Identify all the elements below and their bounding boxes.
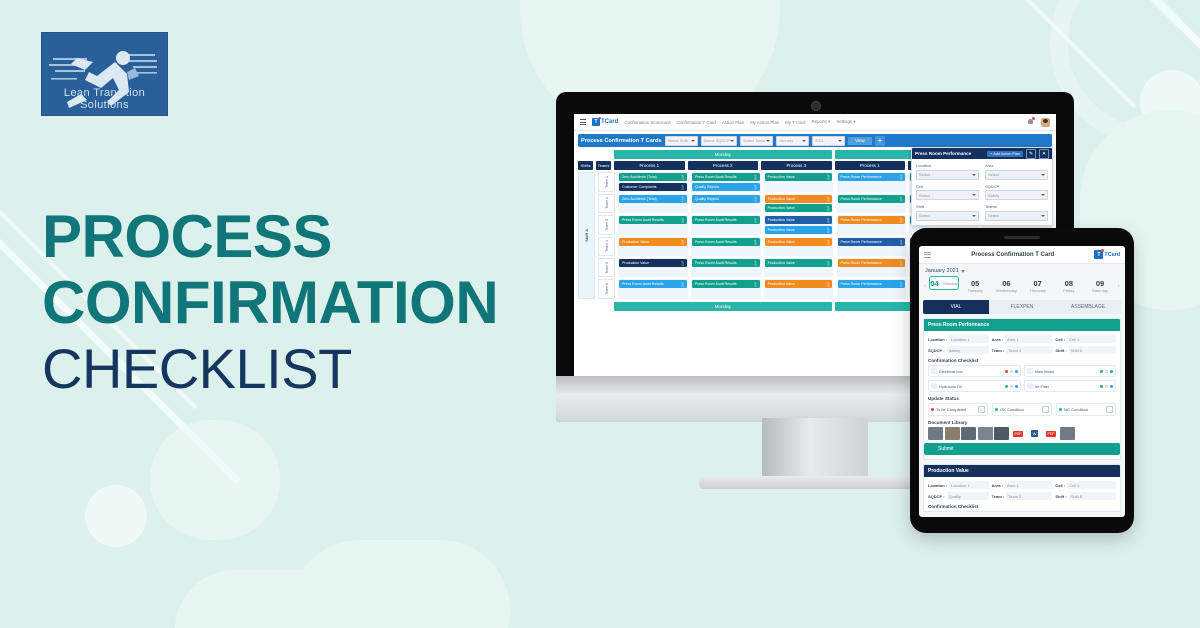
day-header-monday: Monday — [614, 150, 832, 159]
bg-blob-2 — [150, 420, 280, 540]
app-brand[interactable]: T TCard — [592, 118, 618, 126]
pdf-label: PDF — [1013, 431, 1023, 437]
tab-vial[interactable]: VIAL — [923, 300, 989, 314]
card-field-value: Location 1 — [949, 481, 989, 489]
field-label: Area — [985, 163, 1048, 168]
select-team[interactable]: Select Team — [740, 136, 773, 146]
tcard-logo-icon: T — [592, 118, 600, 126]
tcard-item[interactable]: Press Room Audit Results✎☰ — [619, 280, 687, 288]
word-icon[interactable]: W — [1027, 427, 1042, 440]
grid-cell[interactable]: Press Room Performance✎☰ — [837, 279, 907, 299]
field-label: SQDCP — [985, 184, 1048, 189]
panel-field: TeamsSelect — [985, 204, 1048, 221]
close-icon[interactable]: ✕ — [1039, 149, 1049, 159]
nav-item-my-tcard[interactable]: My T Card — [785, 120, 805, 125]
monday-cells: Press Room Audit Results✎☰Press Room Aud… — [618, 279, 834, 299]
monday-cells: Zero Accidents (Total)✎☰Quality Rejects✎… — [618, 194, 834, 214]
tcard-item[interactable]: Press Room Audit Results✎☰ — [692, 259, 760, 267]
tablet-page-title: Process Confirmation T Card — [931, 252, 1094, 258]
team-label-text: Team 6 — [605, 283, 609, 295]
menu-icon[interactable]: ☰ — [681, 284, 685, 287]
press-room-performance-panel: Press Room Performance + Add Action Plan… — [911, 147, 1053, 226]
oil-icon — [931, 383, 937, 389]
panel-header: Press Room Performance + Add Action Plan… — [912, 148, 1052, 159]
grid-cell[interactable]: Production Value✎☰Production Value✎☰ — [764, 215, 834, 235]
tcard-item[interactable]: Zero Accidents (Total)✎☰ — [619, 173, 687, 181]
card1-documents-title: Document Library — [924, 420, 1120, 427]
card-field: Cell :Cell 1 — [1055, 335, 1116, 343]
hamburger-icon[interactable] — [580, 119, 586, 125]
team-label-text: Team 3 — [605, 219, 609, 231]
monday-cells: Press Room Audit Results✎☰Press Room Aud… — [618, 215, 834, 235]
menu-icon[interactable]: ☰ — [754, 263, 758, 266]
date-number: 05 — [962, 279, 989, 288]
chevron-down-icon — [730, 140, 734, 142]
photo-thumbnail[interactable] — [928, 427, 943, 440]
menu-icon[interactable]: ☰ — [827, 199, 831, 202]
checklist-item[interactable]: Air Filter — [1024, 380, 1117, 392]
date-strip: ‹ 04Monday05Tuesday06Wednesday07Thursday… — [919, 276, 1125, 300]
menu-icon[interactable]: ☰ — [754, 187, 758, 190]
tcard-item[interactable]: Production Value✎☰ — [765, 238, 833, 246]
card2-title: Production Value — [924, 465, 1120, 477]
month-label: January 2021 — [925, 268, 959, 274]
document-library: PDFWPDF — [924, 427, 1120, 443]
press-room-performance-card: Press Room Performance Location :Locatio… — [923, 318, 1121, 460]
menu-icon[interactable]: ☰ — [827, 177, 831, 180]
grid-cell[interactable]: Quality Rejects✎☰ — [691, 194, 761, 214]
grid-cell[interactable]: Press Room Performance✎☰ — [837, 237, 907, 257]
tcard-item[interactable]: Press Room Audit Results✎☰ — [619, 216, 687, 224]
card1-fields: Location :Location 1Area :Area 1Cell :Ce… — [924, 331, 1120, 358]
team-label-text: Team 5 — [605, 262, 609, 274]
menu-icon[interactable]: ☰ — [754, 284, 758, 287]
pdf-label: PDF — [1046, 431, 1056, 437]
card2-fields: Location :Location 1Area :Area 1Cell :Ce… — [924, 477, 1120, 504]
tcard-item[interactable]: Production Value✎☰ — [765, 226, 833, 234]
nav-item-my-action-plan[interactable]: My Action Plan — [750, 120, 779, 125]
photo-thumbnail[interactable] — [945, 427, 960, 440]
grid-cell[interactable]: Production Value✎☰ — [764, 237, 834, 257]
pdf-icon[interactable]: PDF — [1011, 427, 1026, 440]
photo-thumbnail[interactable] — [978, 427, 993, 440]
field-label: Location — [916, 163, 979, 168]
add-action-plan-button[interactable]: + Add Action Plan — [987, 151, 1023, 157]
tcard-item[interactable]: Press Room Performance✎☰ — [838, 216, 906, 224]
team-label: Team 1 — [598, 172, 615, 192]
card-field: Area :Area 1 — [992, 335, 1053, 343]
status-dot-empty[interactable] — [1105, 370, 1108, 373]
menu-icon[interactable]: ☰ — [681, 187, 685, 190]
tablet-brand-text: TCard — [1104, 252, 1120, 258]
status-checkbox[interactable]: ✓ — [978, 406, 985, 413]
tab-flexpen[interactable]: FLEXPEN — [989, 300, 1055, 314]
monday-process-3: Process 3 — [761, 161, 832, 170]
add-action-plan-label: Add Action Plan — [993, 152, 1020, 156]
status-option[interactable]: OK Condition — [992, 403, 1052, 416]
status-dot[interactable] — [1100, 370, 1103, 373]
menu-icon[interactable]: ☰ — [900, 263, 904, 266]
nav-item-reports[interactable]: Reports ▾ — [811, 119, 830, 125]
menu-icon[interactable]: ☰ — [827, 230, 831, 233]
tablet-tabs: VIALFLEXPENASSEMBLAGE — [923, 300, 1121, 314]
notification-bell-icon[interactable] — [1027, 118, 1034, 126]
date-number: 06 — [993, 279, 1020, 288]
grid-cell[interactable]: Press Room Performance✎☰ — [837, 172, 907, 192]
add-card-button[interactable]: + — [875, 136, 885, 146]
card-field-label: Cell : — [1055, 483, 1065, 488]
tcard-item[interactable]: Zero Accidents (Total)✎☰ — [619, 195, 687, 203]
date-number: 07 — [1024, 279, 1051, 288]
status-color-dot — [931, 408, 934, 411]
chevron-down-icon — [838, 140, 842, 142]
tablet-brand: T TCard — [1094, 250, 1120, 259]
team-label-text: Team 1 — [605, 176, 609, 188]
tcard-item[interactable]: Press Room Performance✎☰ — [838, 195, 906, 203]
tcard-item[interactable]: Production Value✎☰ — [765, 280, 833, 288]
header-teams: Teams — [596, 161, 611, 170]
card-field-value: Team 1 — [1006, 346, 1052, 354]
chevron-down-icon — [1041, 174, 1045, 176]
tcard-item[interactable]: Customer Complaints✎☰ — [619, 183, 687, 191]
card-field-value: Shift B — [1069, 492, 1116, 500]
headline-line-1: PROCESS — [42, 204, 602, 270]
grid-cell[interactable]: Zero Accidents (Total)✎☰Customer Complai… — [618, 172, 688, 192]
field-label: Shift — [916, 204, 979, 209]
date-08[interactable]: 08Friday — [1054, 276, 1083, 296]
card-field-label: Shift : — [1055, 494, 1066, 499]
nav-item-action-plan[interactable]: Action Plan — [722, 120, 744, 125]
grid-cell[interactable]: Press Room Audit Results✎☰Quality Reject… — [691, 172, 761, 192]
grid-cell[interactable]: Press Room Audit Results✎☰ — [618, 279, 688, 299]
card-field-value: Area 1 — [1005, 481, 1052, 489]
menu-icon[interactable]: ☰ — [900, 242, 904, 245]
date-weekday: Saturday — [1086, 288, 1113, 293]
submit-button[interactable]: Submit — [924, 443, 1120, 455]
tab-assemblage[interactable]: ASSEMBLAGE — [1055, 300, 1121, 314]
menu-icon[interactable]: ☰ — [900, 220, 904, 223]
checklist-label: Air Filter — [1035, 384, 1099, 389]
user-avatar[interactable] — [1041, 118, 1050, 127]
tcard-item[interactable]: Quality Rejects✎☰ — [692, 195, 760, 203]
tcard-logo-icon: T — [1094, 250, 1103, 259]
grid-cell[interactable]: Press Room Audit Results✎☰ — [618, 215, 688, 235]
tcard-item[interactable]: Press Room Performance✎☰ — [838, 173, 906, 181]
card-field: SQDCP :Quality — [928, 492, 989, 500]
card-field: Location :Location 1 — [928, 335, 989, 343]
select-sqdcp-value: Select SQDCP — [704, 138, 730, 143]
card-field-value: Area 1 — [1005, 335, 1052, 343]
card-field: Cell :Cell 1 — [1055, 481, 1116, 489]
field-label: Teams — [985, 204, 1048, 209]
monday-process-1: Process 1 — [614, 161, 685, 170]
grid-cell[interactable]: Press Room Audit Results✎☰ — [691, 215, 761, 235]
checklist-item[interactable]: Electrical box — [928, 365, 1021, 377]
tcard-item[interactable]: Press Room Performance✎☰ — [838, 238, 906, 246]
grid-cell[interactable]: Production Value✎☰ — [764, 279, 834, 299]
tcard-item[interactable]: Press Room Audit Results✎☰ — [692, 280, 760, 288]
chevron-left-icon[interactable]: ‹ — [923, 283, 927, 290]
chevron-down-icon — [972, 215, 976, 217]
edit-icon[interactable]: ✎ — [1026, 149, 1036, 159]
date-items: 04Monday05Tuesday06Wednesday07Thursday08… — [929, 276, 1114, 296]
select-month[interactable]: January — [776, 136, 809, 146]
status-dot-info[interactable] — [1015, 370, 1018, 373]
menu-icon[interactable]: ☰ — [754, 242, 758, 245]
menu-icon[interactable]: ☰ — [827, 208, 831, 211]
date-number: 08 — [1055, 279, 1082, 288]
tcard-item[interactable]: Production Value✎☰ — [765, 204, 833, 212]
select-team-value: Select Team — [743, 138, 765, 143]
field-select[interactable]: Select — [916, 170, 979, 180]
field-value: Select — [988, 213, 999, 218]
grid-cell[interactable]: Press Room Performance✎☰ — [837, 215, 907, 235]
card-field: Location :Location 1 — [928, 481, 989, 489]
status-label: NG Condition — [1064, 407, 1088, 412]
field-select[interactable]: Select — [985, 211, 1048, 221]
monitor-neck — [762, 418, 868, 480]
field-label: Cell — [916, 184, 979, 189]
card-field-value: Cell 1 — [1067, 335, 1116, 343]
menu-icon[interactable]: ☰ — [681, 263, 685, 266]
grid-cell[interactable]: Production Value✎☰Production Value✎☰ — [764, 194, 834, 214]
tuesday-process-1: Process 1 — [835, 161, 906, 170]
menu-icon[interactable]: ☰ — [754, 199, 758, 202]
monday-process-headers: Process 1 Process 2 Process 3 — [614, 161, 832, 170]
card-field-label: Area : — [992, 337, 1003, 342]
month-selector[interactable]: January 2021 — [919, 264, 1125, 276]
webcam-icon — [811, 101, 821, 111]
date-number: 04 — [930, 279, 938, 288]
status-dot[interactable] — [1100, 385, 1103, 388]
card-field-label: Area : — [992, 483, 1003, 488]
tablet-screen: Process Confirmation T Card T TCard Janu… — [919, 246, 1125, 517]
menu-icon[interactable]: ☰ — [754, 220, 758, 223]
production-value-card: Production Value Location :Location 1Are… — [923, 464, 1121, 512]
tcard-item[interactable]: Production Value✎☰ — [619, 238, 687, 246]
date-07[interactable]: 07Thursday — [1023, 276, 1052, 296]
field-select[interactable]: Select — [916, 190, 979, 200]
grid-cell[interactable]: Zero Accidents (Total)✎☰ — [618, 194, 688, 214]
card-field-value: Cell 1 — [1067, 481, 1116, 489]
status-checkbox[interactable] — [1042, 406, 1049, 413]
menu-icon[interactable]: ☰ — [900, 284, 904, 287]
select-sqdcp[interactable]: Select SQDCP — [701, 136, 737, 146]
panel-field: SQDCPSafety — [985, 184, 1048, 201]
menu-icon[interactable]: ☰ — [681, 242, 685, 245]
panel-field: AreaSelect — [985, 163, 1048, 180]
date-weekday: Monday — [943, 281, 957, 286]
card-field-label: Cell : — [1055, 337, 1065, 342]
card-field-value: Safety — [947, 346, 989, 354]
card-field: Area :Area 1 — [992, 481, 1053, 489]
motor-icon — [1027, 368, 1033, 374]
bg-blob-4 — [290, 540, 510, 628]
grid-cell[interactable]: Press Room Audit Results✎☰ — [691, 258, 761, 277]
date-04[interactable]: 04Monday — [929, 276, 958, 290]
card-field-value: Team 2 — [1006, 492, 1052, 500]
date-09[interactable]: 09Saturday — [1085, 276, 1114, 296]
tcard-item[interactable]: Production Value✎☰ — [765, 195, 833, 203]
tcard-item[interactable]: Production Value✎☰ — [765, 216, 833, 224]
status-checkbox[interactable] — [1106, 406, 1113, 413]
card-field-label: SQDCP : — [928, 494, 945, 499]
select-shift-value: Select Shift — [668, 138, 688, 143]
chevron-down-icon — [1041, 215, 1045, 217]
status-option[interactable]: NG Condition — [1056, 403, 1116, 416]
field-select[interactable]: Safety — [985, 190, 1048, 200]
menu-icon[interactable]: ☰ — [681, 199, 685, 202]
grid-cell[interactable]: Production Value✎☰ — [618, 237, 688, 257]
menu-icon[interactable]: ☰ — [827, 242, 831, 245]
tcard-item[interactable]: Press Room Performance✎☰ — [838, 259, 906, 267]
toolbar-title: Process Confirmation T Cards — [581, 138, 662, 144]
card-field-value: Shift A — [1069, 346, 1116, 354]
chevron-down-icon — [766, 140, 770, 142]
menu-icon[interactable]: ☰ — [900, 199, 904, 202]
menu-icon[interactable]: ☰ — [900, 177, 904, 180]
menu-icon[interactable]: ☰ — [681, 220, 685, 223]
menu-icon[interactable]: ☰ — [827, 284, 831, 287]
monday-cells: Production Value✎☰Press Room Audit Resul… — [618, 258, 834, 277]
day-footer-monday: Monday — [614, 302, 832, 311]
tcard-item[interactable]: Quality Rejects✎☰ — [692, 183, 760, 191]
card1-status-title: Update Status — [924, 396, 1120, 403]
tablet-header: Process Confirmation T Card T TCard — [919, 246, 1125, 264]
tcard-item[interactable]: Press Room Audit Results✎☰ — [692, 216, 760, 224]
tcard-item[interactable]: Press Room Performance✎☰ — [838, 280, 906, 288]
field-select[interactable]: Select — [916, 211, 979, 221]
card1-status: To be Completed✓OK ConditionNG Condition — [924, 403, 1120, 420]
nav-item-confirmation-scorecard[interactable]: Confirmation Scorecard — [624, 120, 670, 125]
chevron-down-icon — [691, 140, 695, 142]
checklist-item[interactable]: Hydraulic Oil — [928, 380, 1021, 392]
status-dot-info[interactable] — [1110, 370, 1113, 373]
chevron-down-icon — [972, 174, 976, 176]
panel-fields: LocationSelectAreaSelectCellSelectSQDCPS… — [912, 159, 1052, 225]
tcard-item[interactable]: Production Value✎☰ — [765, 173, 833, 181]
photo-thumbnail[interactable] — [1060, 427, 1075, 440]
date-05[interactable]: 05Tuesday — [961, 276, 990, 296]
nav-items: Confirmation Scorecard Confirmation T Ca… — [624, 119, 855, 125]
field-value: Select — [919, 193, 930, 198]
headline-line-2: CONFIRMATION — [42, 270, 602, 336]
chevron-down-icon — [802, 140, 806, 142]
chevron-down-icon — [961, 270, 965, 273]
tablet-speaker — [1004, 236, 1040, 239]
select-year[interactable]: 2021 — [812, 136, 845, 146]
date-06[interactable]: 06Wednesday — [992, 276, 1021, 296]
checklist-item[interactable]: Main Motor — [1024, 365, 1117, 377]
nav-item-settings[interactable]: Settings ▾ — [836, 119, 855, 125]
card-field-label: Team : — [992, 348, 1005, 353]
field-select[interactable]: Select — [985, 170, 1048, 180]
card-field: SQDCP :Safety — [928, 346, 989, 354]
panel-field: LocationSelect — [916, 163, 979, 180]
nav-item-confirmation-tcard[interactable]: Confirmation T Card — [676, 120, 715, 125]
status-dot[interactable] — [1005, 370, 1008, 373]
view-button[interactable]: View — [848, 137, 872, 145]
status-dot-empty[interactable] — [1010, 385, 1013, 388]
status-dot-empty[interactable] — [1105, 385, 1108, 388]
checklist-label: Main Motor — [1035, 369, 1099, 374]
card-field-label: Shift : — [1055, 348, 1066, 353]
tcard-item[interactable]: Press Room Audit Results✎☰ — [692, 238, 760, 246]
card-field: Shift :Shift B — [1055, 492, 1116, 500]
tcard-item[interactable]: Press Room Audit Results✎☰ — [692, 173, 760, 181]
panel-title: Press Room Performance — [915, 151, 971, 156]
card-field-value: Location 1 — [949, 335, 989, 343]
date-weekday: Thursday — [1024, 288, 1051, 293]
menu-icon[interactable]: ☰ — [754, 177, 758, 180]
card1-checklist-title: Confirmation Checklist — [924, 358, 1120, 365]
menu-icon[interactable]: ☰ — [681, 177, 685, 180]
select-year-value: 2021 — [815, 138, 824, 143]
grid-cell[interactable]: Production Value✎☰ — [618, 258, 688, 277]
status-color-dot — [995, 408, 998, 411]
card1-title: Press Room Performance — [924, 319, 1120, 331]
company-logo: Lean Transition Solutions — [41, 32, 168, 116]
field-value: Select — [988, 172, 999, 177]
card-field-label: Location : — [928, 337, 947, 342]
status-dot-info[interactable] — [1110, 385, 1113, 388]
card1-checklist: Electrical boxMain MotorHydraulic OilAir… — [924, 365, 1120, 396]
monday-process-2: Process 2 — [688, 161, 759, 170]
status-dot-empty[interactable] — [1010, 370, 1013, 373]
status-color-dot — [1059, 408, 1062, 411]
hamburger-icon[interactable] — [924, 252, 931, 258]
app-topnav: T TCard Confirmation Scorecard Confirmat… — [574, 114, 1056, 131]
status-option[interactable]: To be Completed✓ — [928, 403, 988, 416]
grid-cell[interactable]: Press Room Performance✎☰ — [837, 194, 907, 214]
team-label: Team 2 — [598, 194, 615, 214]
select-shift[interactable]: Select Shift — [665, 136, 698, 146]
grid-cell[interactable]: Press Room Audit Results✎☰ — [691, 237, 761, 257]
tcard-item[interactable]: Production Value✎☰ — [765, 259, 833, 267]
shift-label: Shift A — [584, 229, 589, 242]
pdf-icon[interactable]: PDF — [1044, 427, 1059, 440]
menu-icon[interactable]: ☰ — [827, 220, 831, 223]
checklist-label: Electrical box — [939, 369, 1003, 374]
grid-cell[interactable]: Production Value✎☰ — [764, 172, 834, 192]
grid-cell[interactable]: Press Room Audit Results✎☰ — [691, 279, 761, 299]
page-toolbar: Process Confirmation T Cards Select Shif… — [578, 134, 1052, 147]
headline-line-3: CHECKLIST — [42, 336, 602, 402]
grid-cell[interactable]: Production Value✎☰ — [764, 258, 834, 277]
card-field: Team :Team 1 — [992, 346, 1053, 354]
page-title: PROCESS CONFIRMATION CHECKLIST — [42, 204, 602, 402]
chevron-right-icon[interactable]: › — [1117, 283, 1121, 290]
date-number: 09 — [1086, 279, 1113, 288]
poster-canvas: Lean Transition Solutions PROCESS CONFIR… — [0, 0, 1200, 628]
menu-icon[interactable]: ☰ — [827, 263, 831, 266]
tcard-item[interactable]: Production Value✎☰ — [619, 259, 687, 267]
logo-text: Lean Transition Solutions — [41, 87, 168, 111]
field-value: Select — [919, 172, 930, 177]
status-dot[interactable] — [1005, 385, 1008, 388]
grid-cell[interactable]: Press Room Performance✎☰ — [837, 258, 907, 277]
status-label: OK Condition — [1000, 407, 1024, 412]
team-label: Team 5 — [598, 258, 615, 277]
brand-text: TCard — [601, 119, 618, 125]
status-dot-info[interactable] — [1015, 385, 1018, 388]
select-month-value: January — [779, 138, 793, 143]
team-label: Team 4 — [598, 237, 615, 257]
card-field-label: SQDCP : — [928, 348, 945, 353]
status-label: To be Completed — [936, 407, 966, 412]
photo-thumbnail[interactable] — [961, 427, 976, 440]
photo-thumbnail[interactable] — [994, 427, 1009, 440]
